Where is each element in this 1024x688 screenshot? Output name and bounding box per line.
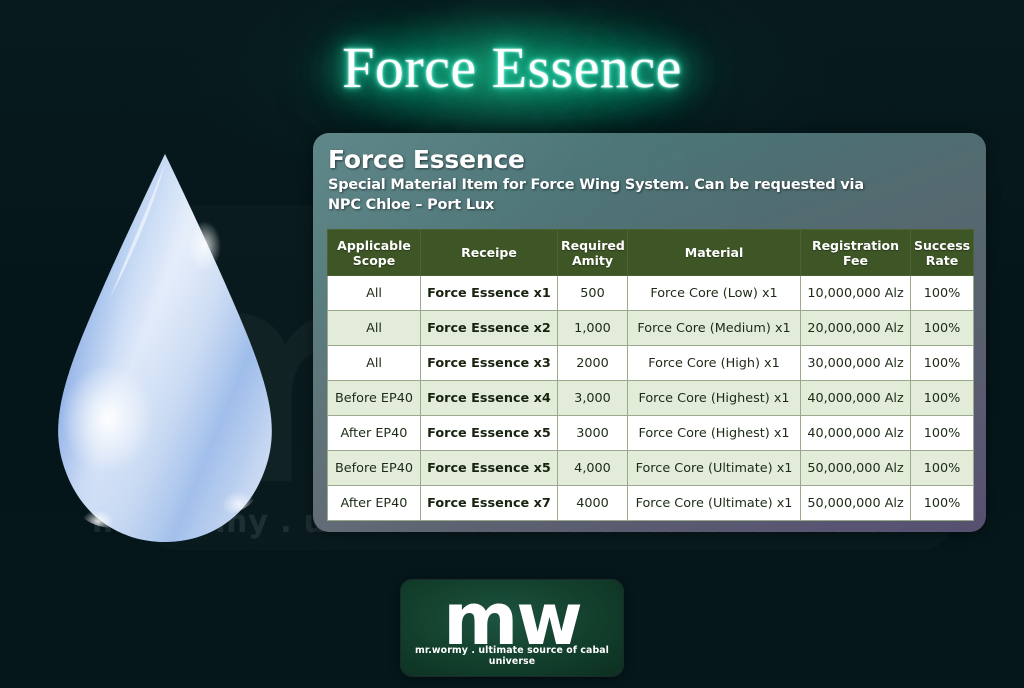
cell-material: Force Core (High) x1: [628, 346, 801, 381]
column-header-required-amity: Required Amity: [558, 230, 628, 276]
cell-registration-fee: 30,000,000 Alz: [801, 346, 911, 381]
recipe-table-container: Applicable Scope Receipe Required Amity …: [327, 229, 973, 521]
cell-material: Force Core (Highest) x1: [628, 381, 801, 416]
panel-title: Force Essence: [328, 145, 986, 175]
cell-material: Force Core (Medium) x1: [628, 311, 801, 346]
mw-logo: mw mr.wormy . ultimate source of cabal u…: [401, 580, 623, 676]
cell-required-amity: 3,000: [558, 381, 628, 416]
table-row: AllForce Essence x21,000Force Core (Medi…: [328, 311, 974, 346]
cell-material: Force Core (Low) x1: [628, 276, 801, 311]
recipe-table: Applicable Scope Receipe Required Amity …: [327, 229, 974, 521]
table-row: After EP40Force Essence x74000Force Core…: [328, 486, 974, 521]
cell-registration-fee: 40,000,000 Alz: [801, 381, 911, 416]
cell-registration-fee: 40,000,000 Alz: [801, 416, 911, 451]
cell-registration-fee: 50,000,000 Alz: [801, 451, 911, 486]
cell-applicable-scope: After EP40: [328, 416, 421, 451]
cell-success-rate: 100%: [911, 416, 974, 451]
mw-logo-tagline: mr.wormy . ultimate source of cabal univ…: [401, 645, 623, 667]
table-row: Before EP40Force Essence x43,000Force Co…: [328, 381, 974, 416]
cell-required-amity: 4,000: [558, 451, 628, 486]
cell-success-rate: 100%: [911, 346, 974, 381]
column-header-material: Material: [628, 230, 801, 276]
cell-required-amity: 1,000: [558, 311, 628, 346]
cell-applicable-scope: After EP40: [328, 486, 421, 521]
cell-applicable-scope: All: [328, 276, 421, 311]
cell-receipe: Force Essence x5: [421, 416, 558, 451]
cell-applicable-scope: Before EP40: [328, 451, 421, 486]
cell-receipe: Force Essence x1: [421, 276, 558, 311]
table-row: After EP40Force Essence x53000Force Core…: [328, 416, 974, 451]
cell-registration-fee: 50,000,000 Alz: [801, 486, 911, 521]
panel-description-line-1: Special Material Item for Force Wing Sys…: [328, 176, 986, 195]
page-root: mw Force Essence: [0, 0, 1024, 688]
info-panel: Force Essence Special Material Item for …: [313, 133, 986, 532]
panel-header: Force Essence Special Material Item for …: [313, 133, 986, 215]
table-row: AllForce Essence x1500Force Core (Low) x…: [328, 276, 974, 311]
cell-required-amity: 500: [558, 276, 628, 311]
cell-receipe: Force Essence x4: [421, 381, 558, 416]
cell-registration-fee: 20,000,000 Alz: [801, 311, 911, 346]
cell-receipe: Force Essence x7: [421, 486, 558, 521]
column-header-receipe: Receipe: [421, 230, 558, 276]
title-area: Force Essence: [0, 34, 1024, 101]
cell-required-amity: 3000: [558, 416, 628, 451]
cell-success-rate: 100%: [911, 276, 974, 311]
column-header-applicable-scope: Applicable Scope: [328, 230, 421, 276]
cell-receipe: Force Essence x5: [421, 451, 558, 486]
cell-material: Force Core (Ultimate) x1: [628, 486, 801, 521]
recipe-table-body: AllForce Essence x1500Force Core (Low) x…: [328, 276, 974, 521]
column-header-registration-fee: Registration Fee: [801, 230, 911, 276]
cell-registration-fee: 10,000,000 Alz: [801, 276, 911, 311]
cell-material: Force Core (Highest) x1: [628, 416, 801, 451]
cell-required-amity: 4000: [558, 486, 628, 521]
table-row: AllForce Essence x32000Force Core (High)…: [328, 346, 974, 381]
cell-applicable-scope: Before EP40: [328, 381, 421, 416]
cell-required-amity: 2000: [558, 346, 628, 381]
cell-success-rate: 100%: [911, 311, 974, 346]
table-row: Before EP40Force Essence x54,000Force Co…: [328, 451, 974, 486]
cell-applicable-scope: All: [328, 311, 421, 346]
cell-applicable-scope: All: [328, 346, 421, 381]
cell-success-rate: 100%: [911, 381, 974, 416]
recipe-table-head: Applicable Scope Receipe Required Amity …: [328, 230, 974, 276]
cell-material: Force Core (Ultimate) x1: [628, 451, 801, 486]
table-header-row: Applicable Scope Receipe Required Amity …: [328, 230, 974, 276]
cell-receipe: Force Essence x2: [421, 311, 558, 346]
cell-success-rate: 100%: [911, 486, 974, 521]
column-header-success-rate: Success Rate: [911, 230, 974, 276]
cell-receipe: Force Essence x3: [421, 346, 558, 381]
cell-success-rate: 100%: [911, 451, 974, 486]
water-droplet-icon: [36, 148, 294, 548]
page-title: Force Essence: [342, 34, 682, 101]
panel-description-line-2: NPC Chloe – Port Lux: [328, 196, 986, 215]
